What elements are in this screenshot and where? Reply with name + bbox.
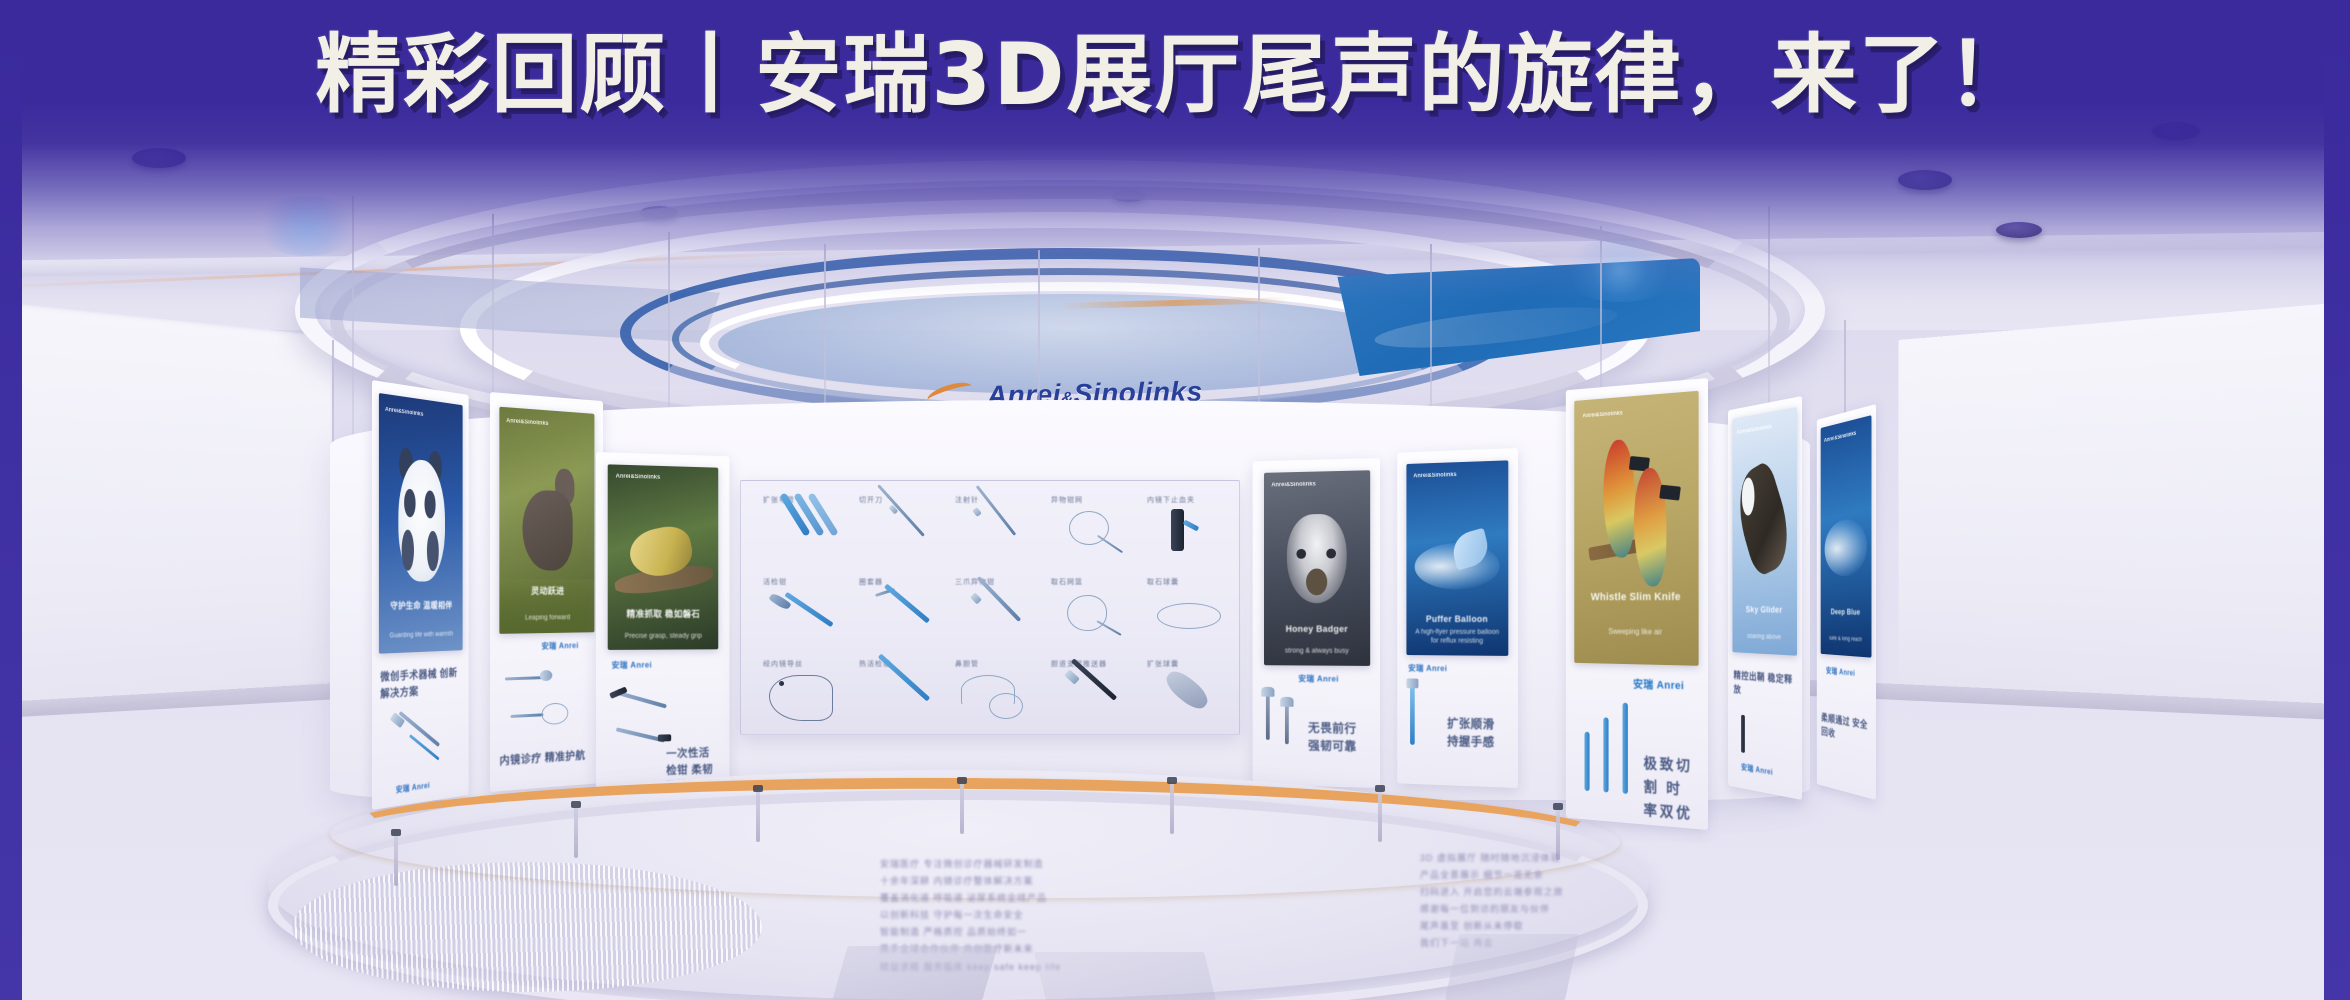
floor-text-line: 感谢每一位到访的朋友与伙伴 xyxy=(1420,901,1740,918)
kangaroo-body-icon xyxy=(523,489,572,570)
product-label: 异物钳网 xyxy=(1051,495,1135,505)
floor-riser-block xyxy=(832,946,997,1000)
instrument-sketch xyxy=(1266,695,1270,740)
panel-caption: 极致切割 时率双优 xyxy=(1643,752,1696,827)
poster-title: Deep Blue xyxy=(1824,608,1869,619)
product-label: 取石球囊 xyxy=(1147,577,1231,587)
poster-brand-label: Anrei&Sinolinks xyxy=(1583,410,1623,419)
product-label: 三爪异物钳 xyxy=(955,577,1039,587)
panel-brand-label: 安瑞 Anrei xyxy=(1298,673,1338,684)
floor-text-line: 扫码进入 开启您的云端参观之旅 xyxy=(1420,884,1740,901)
panel-caption: 精控出鞘 稳定释放 xyxy=(1734,669,1796,703)
panel-brand-label: 安瑞 Anrei xyxy=(1633,676,1684,693)
floor-text-line: 安瑞医疗 专注微创诊疗器械研发制造 xyxy=(880,856,1200,873)
poster-brand-label: Anrei&Sinolinks xyxy=(616,474,661,481)
poster-title: Puffer Balloon xyxy=(1412,613,1502,625)
panel-brand-label: 安瑞 Anrei xyxy=(396,780,430,796)
panel-brand-label: 安瑞 Anrei xyxy=(542,640,579,652)
poster-brand-label: Anrei&Sinolinks xyxy=(506,419,548,428)
poster-subtitle: safe & long reach xyxy=(1825,636,1868,646)
incision-knife-icon xyxy=(877,484,925,537)
rail-post xyxy=(1378,790,1382,842)
product-cell[interactable]: 扩张导管 xyxy=(763,495,847,569)
poster-brand-label: Anrei&Sinolinks xyxy=(1271,481,1315,488)
exhibit-panel-eagle[interactable]: Anrei&Sinolinks Sky Glider soaring above… xyxy=(1728,396,1802,800)
hemostasis-clip-icon xyxy=(1171,509,1184,551)
product-cell[interactable]: 扩张球囊 xyxy=(1147,659,1231,729)
nasobiliary-tube-icon xyxy=(989,693,1023,719)
poster-subtitle: Precise grasp, steady grip xyxy=(617,631,710,640)
product-label: 内镜下止血夹 xyxy=(1147,495,1231,505)
instrument-jaw-icon xyxy=(658,734,671,741)
floor-text-line: 覆盖消化道 呼吸道 泌尿系统全线产品 xyxy=(880,890,1200,907)
wall-panel-right xyxy=(1898,300,2350,720)
panel-caption: 柔顺通过 安全回收 xyxy=(1821,711,1871,749)
panda-arm-icon xyxy=(427,531,439,571)
panel-brand-label: 安瑞 Anrei xyxy=(1741,762,1773,778)
panel-brand-label: 安瑞 Anrei xyxy=(1826,665,1855,678)
panda-eye-icon xyxy=(404,489,415,518)
product-label: 扩张球囊 xyxy=(1147,659,1231,669)
product-label: 热活检钳 xyxy=(859,659,943,669)
exhibit-panel-panda[interactable]: Anrei&Sinolinks 守护生命 温暖相伴 Guarding life … xyxy=(372,380,469,810)
poster-title: 灵动跃进 xyxy=(505,585,589,597)
product-grid-panel[interactable]: 扩张导管 切开刀 注射针 异物钳网 内镜下止血夹 活检钳 xyxy=(740,480,1240,735)
panda-arm-icon xyxy=(402,530,414,571)
floor-text-line: 以创新科技 守护每一次生命安全 xyxy=(880,907,1200,924)
ceiling-light-icon xyxy=(1112,190,1146,202)
poster-title: Whistle Slim Knife xyxy=(1581,591,1690,606)
product-cell[interactable]: 切开刀 xyxy=(859,495,943,569)
poster-subtitle: soaring above xyxy=(1737,632,1791,643)
poster-ocean[interactable]: Anrei&Sinolinks Puffer Balloon A high-fl… xyxy=(1406,460,1508,656)
ceiling-light-icon xyxy=(1996,222,2042,238)
rail-post xyxy=(574,806,578,858)
knife-bar-icon xyxy=(1584,732,1589,791)
floor-text-line: 3D 虚拟展厅 随时随地沉浸体验 xyxy=(1420,850,1740,867)
panel-caption: 扩张顺滑 持握手感 xyxy=(1447,714,1508,751)
poster-title: Honey Badger xyxy=(1270,623,1363,635)
ceiling-light-icon xyxy=(640,206,678,219)
dilation-balloon-icon xyxy=(1162,666,1213,714)
badger-eye-icon xyxy=(1326,549,1336,559)
rail-post-cap-icon xyxy=(957,777,967,784)
product-label: 注射针 xyxy=(955,495,1039,505)
exhibit-panel-deepblue[interactable]: Anrei&Sinolinks Deep Blue safe & long re… xyxy=(1817,404,1876,800)
poster-subtitle: Sweeping like air xyxy=(1584,627,1688,638)
poster-brand-label: Anrei&Sinolinks xyxy=(1824,431,1856,444)
poster-subtitle: Leaping forward xyxy=(507,613,587,623)
poster-subtitle: A high-flyer pressure balloon for reflux… xyxy=(1414,628,1500,646)
rail-post-cap-icon xyxy=(1375,785,1385,792)
product-label: 活检钳 xyxy=(763,577,847,587)
product-cell[interactable]: 活检钳 xyxy=(763,577,847,651)
poster-deepblue[interactable]: Anrei&Sinolinks Deep Blue safe & long re… xyxy=(1821,415,1872,657)
prong-tip-icon xyxy=(970,592,982,604)
floor-text-line: 尾声虽至 创新从未停歇 xyxy=(1420,918,1740,935)
net-shaft-icon xyxy=(1097,535,1123,553)
rail-post-cap-icon xyxy=(1553,803,1563,810)
snare-loop-icon xyxy=(542,702,569,725)
product-label: 鼻胆管 xyxy=(955,659,1039,669)
stone-basket-icon xyxy=(1067,595,1107,631)
poster-eagle[interactable]: Anrei&Sinolinks Sky Glider soaring above xyxy=(1732,407,1797,656)
poster-frog[interactable]: Anrei&Sinolinks 精准抓取 稳如磐石 Precise grasp,… xyxy=(608,464,719,650)
knife-bar-icon xyxy=(1603,717,1608,792)
wave-icon xyxy=(1825,518,1868,577)
instrument-tip-icon xyxy=(1280,697,1293,707)
panel-caption: 无畏前行 强韧可靠 xyxy=(1308,719,1370,756)
pusher-handle-icon xyxy=(1064,669,1080,684)
ceiling-light-icon xyxy=(1898,170,1952,190)
rail-post-cap-icon xyxy=(391,829,401,836)
guidewire-marker-icon xyxy=(779,681,784,686)
bird-beak-icon xyxy=(1659,485,1681,501)
product-cell[interactable]: 圈套器 xyxy=(859,577,943,651)
instrument-sketch xyxy=(409,734,440,760)
product-cell[interactable]: 鼻胆管 xyxy=(955,659,1039,729)
instrument-sketch xyxy=(1410,686,1415,745)
exhibit-panel-ocean[interactable]: Anrei&Sinolinks Puffer Balloon A high-fl… xyxy=(1397,448,1518,788)
instrument-sketch xyxy=(1285,705,1289,744)
exhibit-panel-frog[interactable]: Anrei&Sinolinks 精准抓取 稳如磐石 Precise grasp,… xyxy=(596,452,729,788)
floor-text-line: 智能制造 严格质控 品质始终如一 xyxy=(880,924,1200,941)
rail-post xyxy=(756,790,760,842)
poster-title: Sky Glider xyxy=(1736,603,1793,615)
poster-birds[interactable]: Anrei&Sinolinks Whistle Slim Knife Sweep… xyxy=(1574,391,1698,666)
product-cell[interactable]: 取石球囊 xyxy=(1147,577,1231,651)
exhibit-panel-badger[interactable]: Anrei&Sinolinks Honey Badger strong & al… xyxy=(1253,458,1380,788)
basket-shaft-icon xyxy=(1096,620,1121,636)
poster-brand-label: Anrei&Sinolinks xyxy=(385,407,423,418)
floor-riser-block xyxy=(1445,934,1579,1000)
poster-subtitle: Guarding life with warmth xyxy=(386,630,456,641)
poster-panda[interactable]: Anrei&Sinolinks 守护生命 温暖相伴 Guarding life … xyxy=(379,393,463,654)
ceiling-light-icon xyxy=(2152,122,2200,140)
floor-text-line: 产品全景展示 细节一览无余 xyxy=(1420,867,1740,884)
rail-post-cap-icon xyxy=(1167,777,1177,784)
poster-brand-label: Anrei&Sinolinks xyxy=(1413,472,1456,479)
panel-brand-label: 安瑞 Anrei xyxy=(1408,663,1447,674)
poster-title: 守护生命 温暖相伴 xyxy=(384,600,458,612)
injection-needle-icon xyxy=(976,485,1017,536)
knife-bar-icon xyxy=(1623,703,1628,794)
product-cell[interactable]: 取石网篮 xyxy=(1051,577,1135,651)
snare-shaft-icon xyxy=(884,584,930,624)
product-cell[interactable]: 三爪异物钳 xyxy=(955,577,1039,651)
poster-subtitle: strong & always busy xyxy=(1272,647,1361,656)
panel-caption: 微创手术器械 创新解决方案 xyxy=(380,665,461,702)
product-cell[interactable]: 注射针 xyxy=(955,495,1039,569)
page-title: 精彩回顾丨安瑞3D展厅尾声的旋律，来了！ xyxy=(0,28,2350,123)
stone-balloon-icon xyxy=(1157,603,1221,629)
product-label: 圈套器 xyxy=(859,577,943,587)
product-label: 切开刀 xyxy=(859,495,943,505)
needle-tip-icon xyxy=(972,507,982,517)
panel-brand-label: 安瑞 Anrei xyxy=(612,660,652,671)
product-label: 经内镜导丝 xyxy=(763,659,847,669)
product-cell[interactable]: 热活检钳 xyxy=(859,659,943,729)
exhibition-hall-banner: Anrei&Sinolinks Keep Safe Keep Life Anre… xyxy=(0,0,2350,1000)
clip-arm-icon xyxy=(1183,520,1199,532)
rail-post-cap-icon xyxy=(571,801,581,808)
panda-eye-icon xyxy=(425,490,436,518)
instrument-tip-icon xyxy=(540,670,553,681)
rail-post-cap-icon xyxy=(753,785,763,792)
rail-post xyxy=(1170,782,1174,834)
wall-panel-left xyxy=(0,300,334,720)
forceps-shaft-icon xyxy=(784,592,833,627)
product-cell[interactable]: 经内镜导丝 xyxy=(763,659,847,729)
poster-badger[interactable]: Anrei&Sinolinks Honey Badger strong & al… xyxy=(1264,470,1370,666)
product-label: 取石网篮 xyxy=(1051,577,1135,587)
product-cell[interactable]: 内镜下止血夹 xyxy=(1147,495,1231,569)
instrument-sketch xyxy=(511,713,544,718)
instrument-tip-icon xyxy=(1261,687,1274,697)
ceiling-light-icon xyxy=(132,148,186,168)
instrument-sketch xyxy=(1741,715,1745,753)
panel-caption: 内镜诊疗 精准护航 xyxy=(499,747,594,770)
exhibit-panel-birds[interactable]: Anrei&Sinolinks Whistle Slim Knife Sweep… xyxy=(1566,378,1708,830)
eagle-wing-icon xyxy=(1732,459,1797,578)
exhibit-panel-kangaroo[interactable]: Anrei&Sinolinks 灵动跃进 Leaping forward 安瑞 … xyxy=(490,392,603,792)
rail-post xyxy=(394,834,398,886)
floor-text-line: 十余年深耕 内镜诊疗整体解决方案 xyxy=(880,873,1200,890)
product-cell[interactable]: 胆道支架推送器 xyxy=(1051,659,1135,729)
product-cell[interactable]: 异物钳网 xyxy=(1051,495,1135,569)
floor-riser-block xyxy=(1034,952,1216,1000)
rail-post xyxy=(960,782,964,834)
poster-brand-label: Anrei&Sinolinks xyxy=(1737,424,1772,436)
poster-title: 精准抓取 稳如磐石 xyxy=(614,608,711,620)
poster-kangaroo[interactable]: Anrei&Sinolinks 灵动跃进 Leaping forward xyxy=(499,407,594,634)
product-label: 胆道支架推送器 xyxy=(1051,659,1135,669)
instrument-tip-icon xyxy=(1406,678,1418,688)
